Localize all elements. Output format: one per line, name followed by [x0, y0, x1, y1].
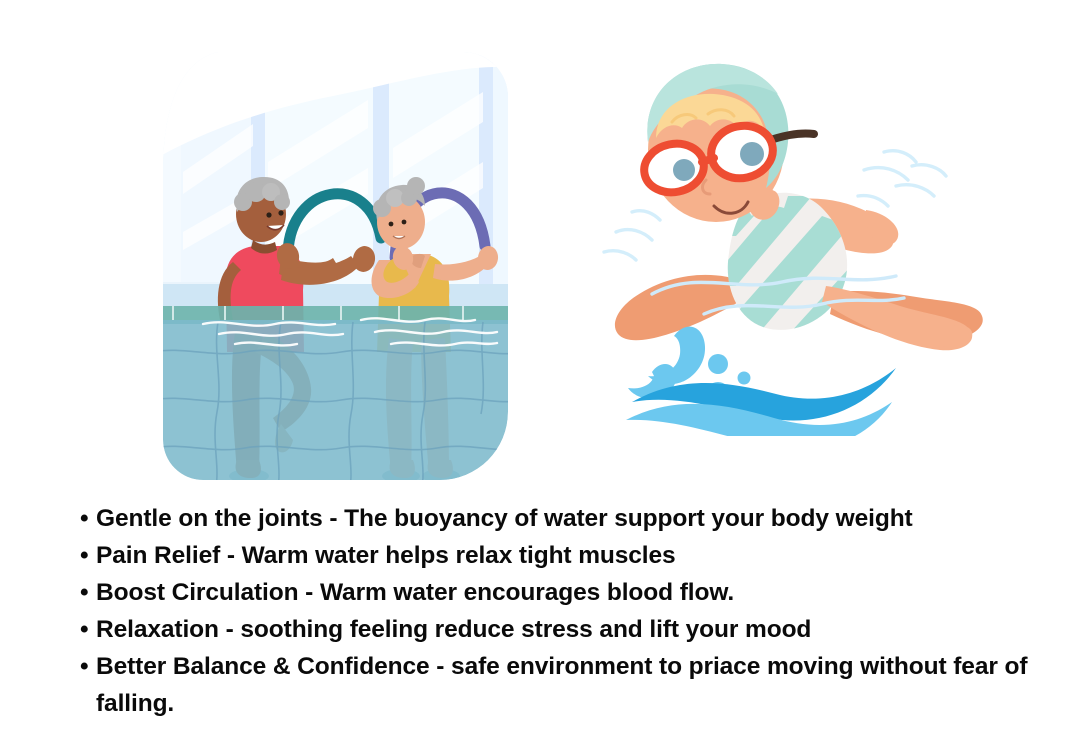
pool-aerobics-illustration: [163, 52, 508, 480]
swimmer-scene-svg: [596, 46, 996, 436]
benefit-text: Pain Relief - Warm water helps relax tig…: [96, 537, 1048, 574]
bullet-icon: •: [70, 537, 96, 574]
benefit-text: Gentle on the joints - The buoyancy of w…: [96, 500, 1048, 537]
wave-graphic: [626, 327, 896, 436]
benefit-text: Boost Circulation - Warm water encourage…: [96, 574, 1048, 611]
window-mullion: [373, 58, 389, 284]
hair-bun: [407, 177, 425, 195]
benefit-item-boost-circulation: • Boost Circulation - Warm water encoura…: [70, 574, 1070, 611]
pool-scene-svg: [163, 52, 508, 480]
benefits-list: • Gentle on the joints - The buoyancy of…: [70, 500, 1070, 722]
bubble-b: [738, 372, 751, 385]
benefit-item-gentle-on-the-joints: • Gentle on the joints - The buoyancy of…: [70, 500, 1070, 537]
pool-water: [163, 306, 508, 480]
bullet-icon: •: [70, 500, 96, 537]
illustrations-row: [0, 0, 1080, 492]
bubble-a: [708, 354, 728, 374]
bullet-icon: •: [70, 648, 96, 685]
slide-page: • Gentle on the joints - The buoyancy of…: [0, 0, 1080, 756]
bullet-icon: •: [70, 574, 96, 611]
benefit-item-pain-relief: • Pain Relief - Warm water helps relax t…: [70, 537, 1070, 574]
benefit-text: Better Balance & Confidence - safe envir…: [96, 648, 1048, 722]
eye-left: [673, 159, 695, 181]
eye-right: [740, 142, 764, 166]
benefit-text: Relaxation - soothing feeling reduce str…: [96, 611, 1048, 648]
swimmer-illustration: [596, 46, 996, 436]
benefit-item-better-balance-confidence: • Better Balance & Confidence - safe env…: [70, 648, 1070, 722]
bullet-icon: •: [70, 611, 96, 648]
benefit-item-relaxation: • Relaxation - soothing feeling reduce s…: [70, 611, 1070, 648]
